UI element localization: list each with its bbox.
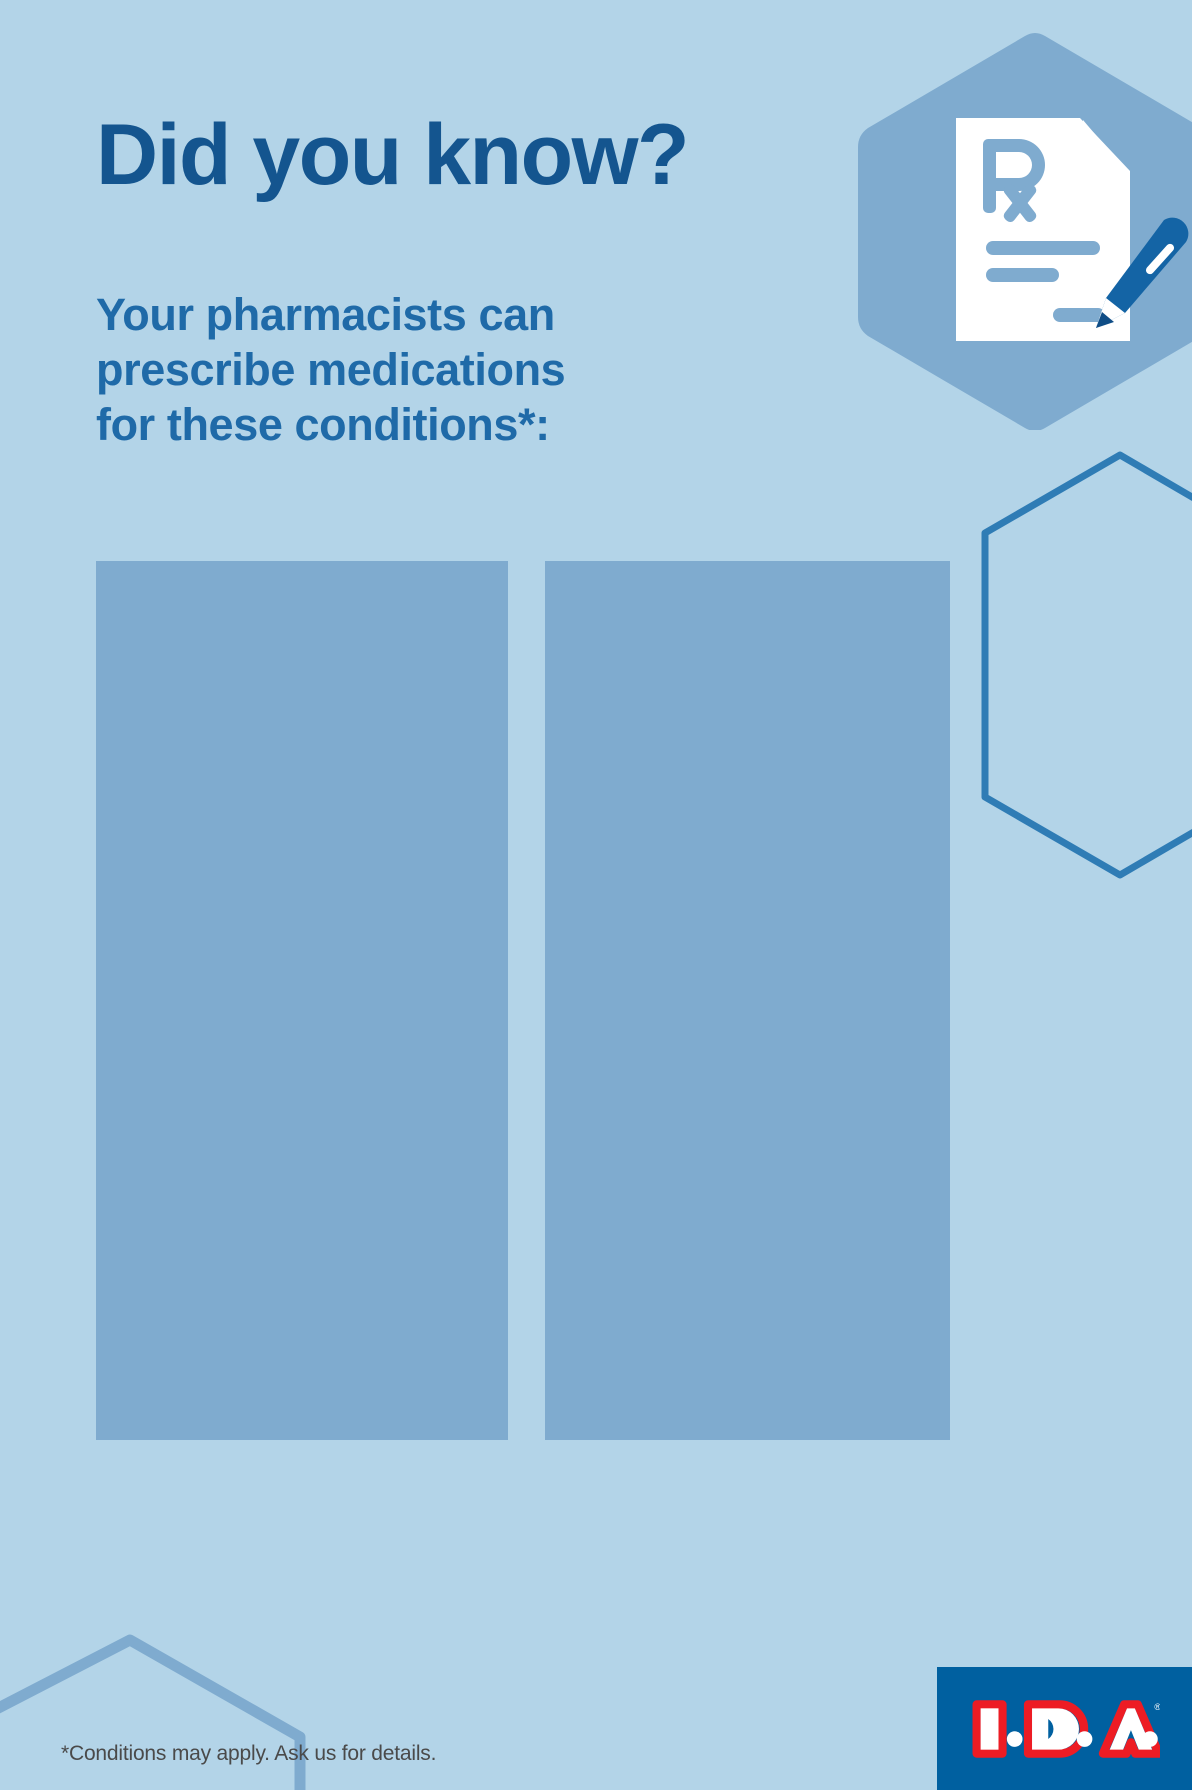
hero-rx-icon — [750, 28, 1192, 430]
page-subheadline: Your pharmacists can prescribe medicatio… — [96, 288, 565, 453]
hexagon-outline-bottom-left-icon — [0, 1640, 300, 1790]
subheadline-line-3: for these conditions*: — [96, 398, 565, 453]
poster-canvas: Did you know? Your pharmacists can presc… — [0, 0, 1192, 1790]
footnote-text: *Conditions may apply. Ask us for detail… — [61, 1742, 436, 1766]
document-line-1 — [986, 241, 1100, 255]
conditions-panels — [96, 561, 950, 1440]
conditions-column-right — [545, 561, 950, 1440]
document-line-2 — [986, 268, 1059, 282]
registered-mark: ® — [1154, 1702, 1160, 1712]
ida-logo-container: ® — [937, 1667, 1192, 1790]
signature-line — [1053, 308, 1105, 322]
ida-logo-icon: ® — [970, 1693, 1160, 1765]
conditions-column-left — [96, 561, 508, 1440]
subheadline-line-2: prescribe medications — [96, 343, 565, 398]
hexagon-outline-right-icon — [985, 455, 1192, 875]
page-headline: Did you know? — [96, 112, 688, 198]
subheadline-line-1: Your pharmacists can — [96, 288, 565, 343]
